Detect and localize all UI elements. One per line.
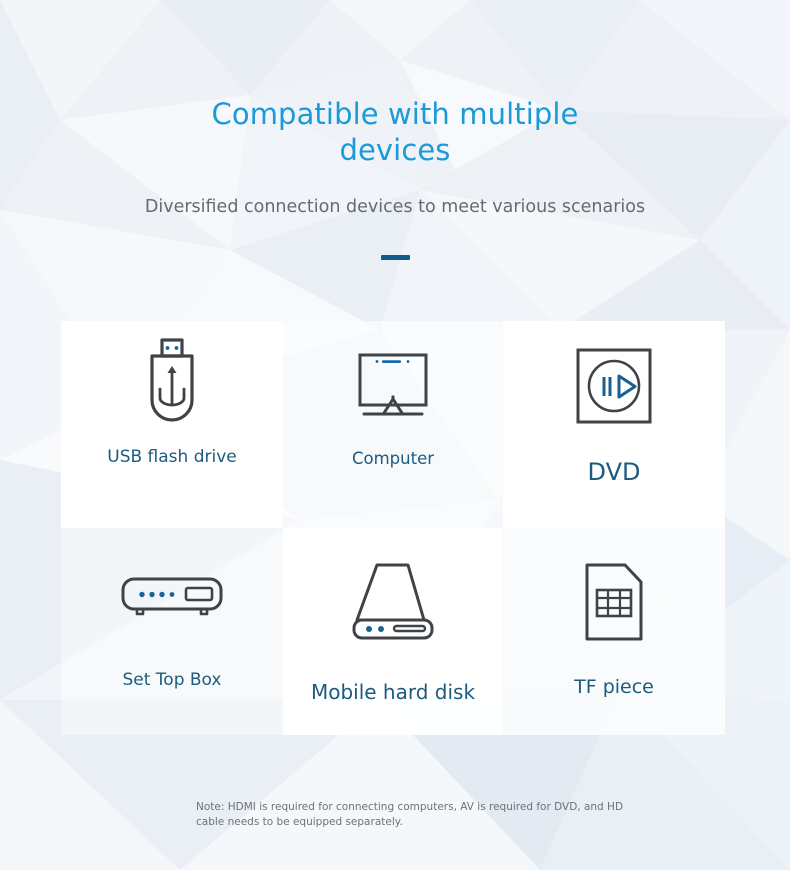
page-header: Compatible with multiple devices Diversi… [0, 100, 790, 260]
dvd-player-icon [503, 321, 725, 451]
device-card-mobile-hard-disk[interactable]: Mobile hard disk [283, 528, 503, 735]
device-card-label: DVD [582, 457, 647, 487]
device-card-label: USB flash drive [101, 447, 242, 468]
device-card-usb-flash-drive[interactable]: USB flash drive [61, 321, 283, 528]
tf-memory-card-icon [503, 528, 725, 676]
page-title: Compatible with multiple devices [0, 100, 790, 165]
mobile-hard-disk-icon [283, 528, 503, 678]
device-card-computer[interactable]: Computer [283, 321, 503, 528]
footer-note: Note: HDMI is required for connecting co… [196, 800, 636, 830]
set-top-box-icon [61, 528, 283, 668]
page-subtitle: Diversified connection devices to meet v… [0, 197, 790, 217]
device-card-tf-piece[interactable]: TF piece [503, 528, 725, 735]
device-card-label: Mobile hard disk [305, 680, 481, 705]
device-card-set-top-box[interactable]: Set Top Box [61, 528, 283, 735]
device-card-grid: USB flash drive Computer [61, 321, 725, 735]
usb-flash-drive-icon [61, 321, 283, 443]
device-card-label: Set Top Box [116, 670, 227, 691]
computer-monitor-icon [283, 321, 503, 449]
title-divider-bar [381, 255, 410, 260]
device-card-dvd[interactable]: DVD [503, 321, 725, 528]
divider-wrap [0, 255, 790, 260]
page-title-line2: devices [0, 136, 790, 165]
page-title-line1: Compatible with multiple [212, 97, 579, 131]
device-card-label: Computer [346, 449, 440, 470]
device-card-label: TF piece [568, 676, 660, 700]
